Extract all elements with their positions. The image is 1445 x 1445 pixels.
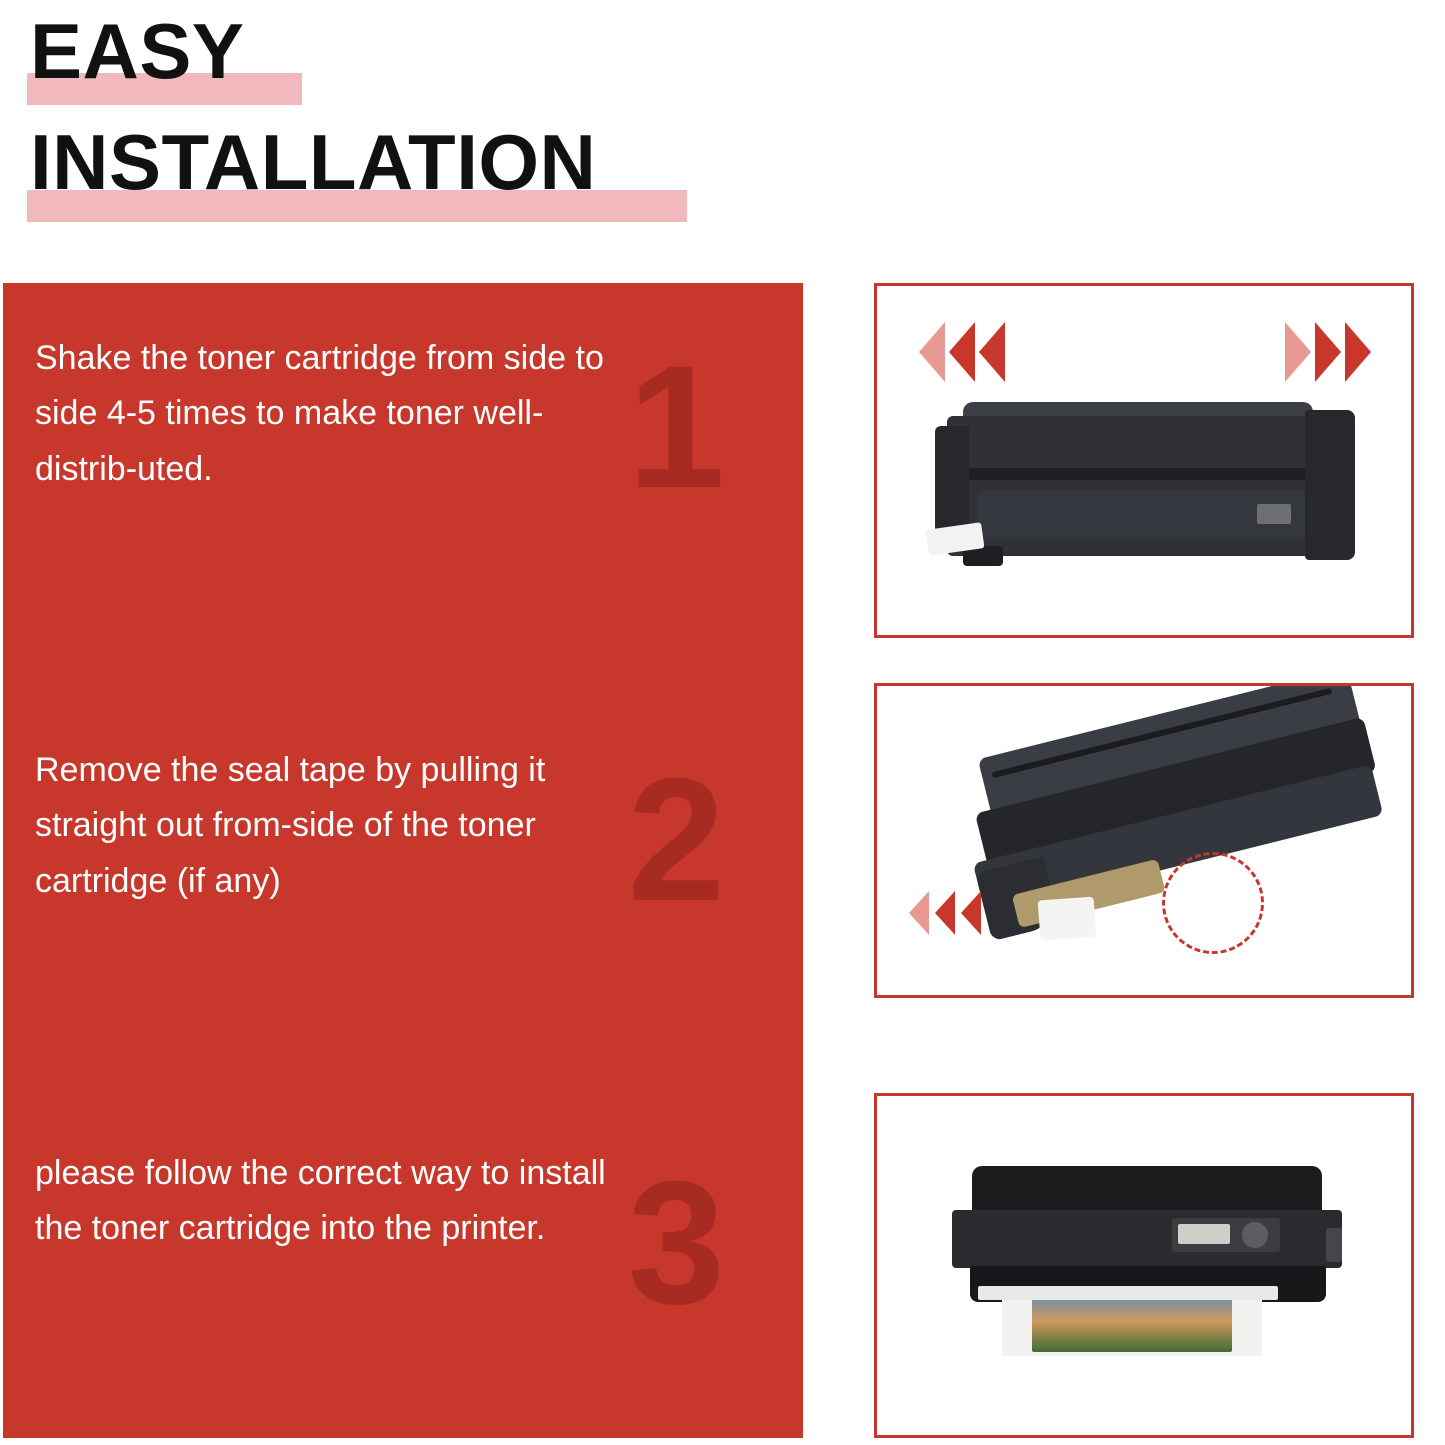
chevron-left-icon [961, 891, 981, 935]
illustration-card-shake [874, 283, 1414, 638]
chevron-right-icon [1345, 322, 1371, 382]
chevron-left-icon [919, 322, 945, 382]
printer-body [952, 1210, 1342, 1268]
step-number: 2 [628, 753, 725, 928]
illustration-card-printer [874, 1093, 1414, 1438]
page-title-line-1: EASY [30, 12, 244, 90]
illustration-card-seal-tape [874, 683, 1414, 998]
cartridge-band [947, 468, 1347, 480]
printer-display [1178, 1224, 1230, 1244]
step-text: Remove the seal tape by pulling it strai… [35, 743, 635, 909]
shake-arrows [877, 322, 1411, 382]
chevron-right-icon [1315, 322, 1341, 382]
cartridge-right-cap [1305, 410, 1355, 560]
chevron-left-icon [909, 891, 929, 935]
chevron-left-icon [979, 322, 1005, 382]
printed-photo [1032, 1296, 1232, 1352]
step-item: Remove the seal tape by pulling it strai… [3, 698, 803, 1098]
printer-dial [1242, 1222, 1268, 1248]
toner-cartridge-image [927, 396, 1367, 576]
cartridge-chip [1257, 504, 1291, 524]
highlight-dashed-circle [1162, 852, 1264, 954]
step-number: 3 [628, 1156, 725, 1331]
step-item: please follow the correct way to install… [3, 1118, 803, 1438]
printer-output-tray [978, 1286, 1278, 1300]
chevron-left-icon [935, 891, 955, 935]
printer-side-buttons [1326, 1228, 1342, 1262]
step-item: Shake the toner cartridge from side to s… [3, 283, 803, 683]
chevron-left-icon [949, 322, 975, 382]
printer-image [942, 1166, 1352, 1366]
chevron-right-icon [1285, 322, 1311, 382]
cartridge-seal-tape [1038, 897, 1097, 941]
step-number: 1 [628, 340, 725, 515]
step-text: Shake the toner cartridge from side to s… [35, 331, 635, 497]
page-title-line-2: INSTALLATION [30, 123, 596, 201]
header: EASY INSTALLATION [0, 0, 1445, 270]
step-text: please follow the correct way to install… [35, 1146, 635, 1257]
printer-lid [972, 1166, 1322, 1212]
toner-cartridge-angled-image [946, 683, 1414, 998]
steps-panel: Shake the toner cartridge from side to s… [3, 283, 803, 1438]
